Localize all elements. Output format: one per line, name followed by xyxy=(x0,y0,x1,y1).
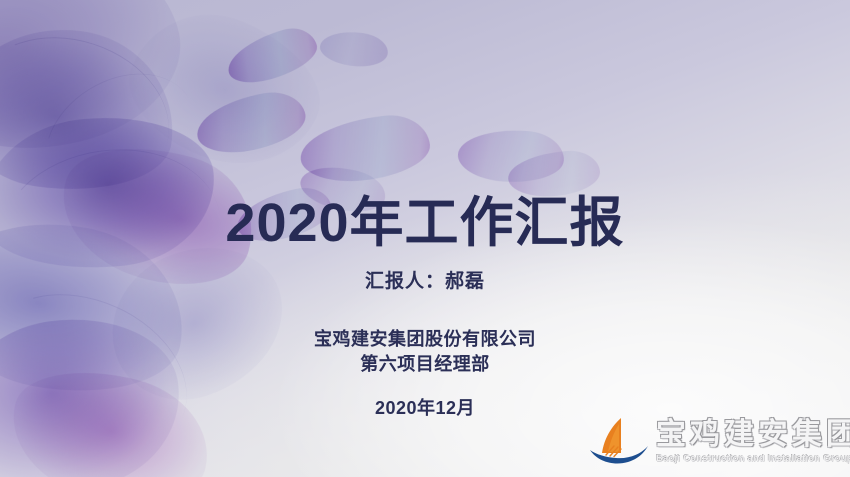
petal-floating-upper-2 xyxy=(318,27,390,70)
logo-text-group: 宝鸡建安集团 Baoji Construction and Installati… xyxy=(656,418,850,465)
company-logo: 宝鸡建安集团 Baoji Construction and Installati… xyxy=(588,408,846,474)
petal-floating-center xyxy=(297,111,433,186)
company-name-line: 宝鸡建安集团股份有限公司 xyxy=(0,328,850,351)
petal-left-top-violet xyxy=(0,16,185,204)
presentation-title-slide: 2020年工作汇报 汇报人：郝磊 宝鸡建安集团股份有限公司 第六项目经理部 20… xyxy=(0,0,850,477)
sail-boat-icon xyxy=(588,415,650,467)
petal-left-edge-pale xyxy=(92,227,303,419)
petal-floating-upper-1 xyxy=(222,22,323,90)
petal-floating-right-2 xyxy=(507,149,602,199)
petal-floating-center-right xyxy=(456,126,565,185)
logo-english-name: Baoji Construction and Installation Grou… xyxy=(656,453,850,465)
department-line: 第六项目经理部 xyxy=(0,353,850,376)
presenter-line: 汇报人：郝磊 xyxy=(0,270,850,294)
petal-mid-left-pale-wash xyxy=(111,0,340,190)
petal-vein-arc-1 xyxy=(0,13,189,219)
petal-large-upper-left xyxy=(0,0,199,172)
page-title: 2020年工作汇报 xyxy=(0,193,850,253)
petal-floating-mid-left xyxy=(192,87,310,159)
logo-chinese-name: 宝鸡建安集团 xyxy=(656,418,850,452)
